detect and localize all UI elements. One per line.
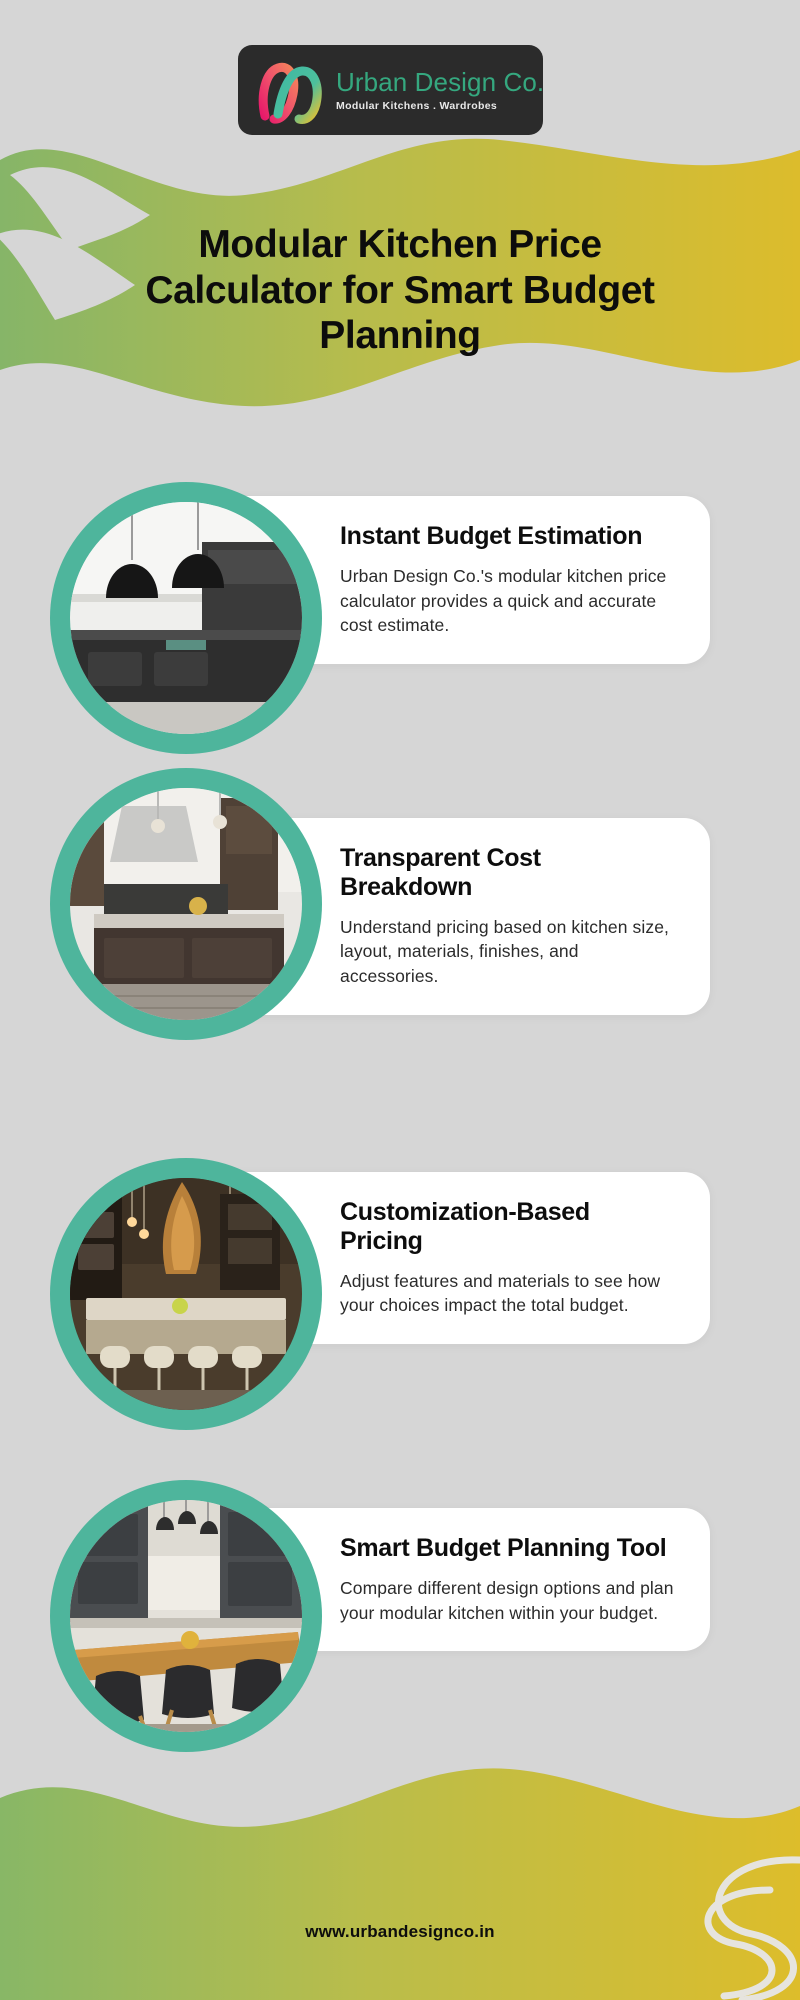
kitchen-dark-cabinets-granite-island-photo <box>70 788 302 1020</box>
footer-wave-decoration <box>0 1740 800 2000</box>
feature-card-2-title: Transparent Cost Breakdown <box>340 844 676 902</box>
logo-tagline: Modular Kitchens . Wardrobes <box>336 101 544 112</box>
feature-card-3-title: Customization-Based Pricing <box>340 1198 676 1256</box>
feature-card-3-body: Adjust features and materials to see how… <box>340 1269 676 1319</box>
feature-card-1-body: Urban Design Co.'s modular kitchen price… <box>340 564 676 639</box>
footer-website-url[interactable]: www.urbandesignco.in <box>0 1922 800 1942</box>
kitchen-black-island-pendant-lights-photo <box>70 502 302 734</box>
infographic-page: Urban Design Co. Modular Kitchens . Ward… <box>0 0 800 2000</box>
logo-brand-name: Urban Design Co. <box>336 69 544 95</box>
feature-card-3-thumbnail <box>50 1158 322 1430</box>
page-title: Modular Kitchen Price Calculator for Sma… <box>0 222 800 359</box>
feature-card-4-body: Compare different design options and pla… <box>340 1576 676 1626</box>
feature-card-2-thumbnail <box>50 768 322 1040</box>
feature-card-1-title: Instant Budget Estimation <box>340 522 676 551</box>
kitchen-grey-cabinets-wooden-dining-table-photo <box>70 1500 302 1732</box>
feature-card-4-title: Smart Budget Planning Tool <box>340 1534 676 1563</box>
feature-card-4-thumbnail <box>50 1480 322 1752</box>
feature-card-2-body: Understand pricing based on kitchen size… <box>340 915 676 990</box>
kitchen-warm-wood-bar-stools-photo <box>70 1178 302 1410</box>
urban-design-co-swirl-logo-icon <box>252 54 326 126</box>
feature-card-1-thumbnail <box>50 482 322 754</box>
brand-logo-card[interactable]: Urban Design Co. Modular Kitchens . Ward… <box>238 45 543 135</box>
